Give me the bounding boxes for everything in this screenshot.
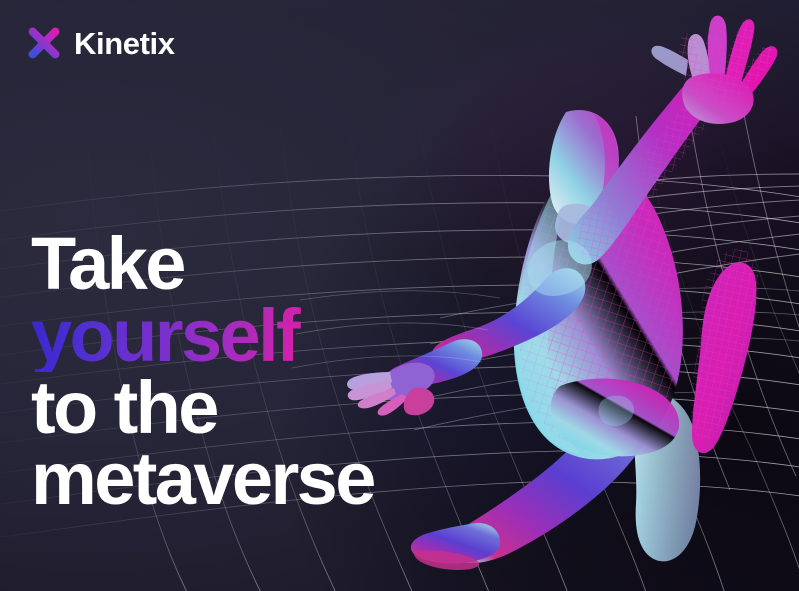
hero-headline: Take yourself to the metaverse bbox=[31, 228, 374, 515]
kinetix-x-mark-icon bbox=[25, 24, 63, 62]
kinetix-hero-banner: Kinetix Take yourself to the metaverse bbox=[0, 0, 799, 591]
headline-line-4: metaverse bbox=[31, 443, 374, 515]
headline-line-2: yourself bbox=[31, 300, 374, 372]
brand-wordmark: Kinetix bbox=[74, 28, 175, 59]
headline-line-1: Take bbox=[31, 228, 374, 300]
headline-line-3: to the bbox=[31, 372, 374, 444]
brand-logo[interactable]: Kinetix bbox=[25, 24, 175, 62]
figure-body bbox=[347, 10, 790, 570]
